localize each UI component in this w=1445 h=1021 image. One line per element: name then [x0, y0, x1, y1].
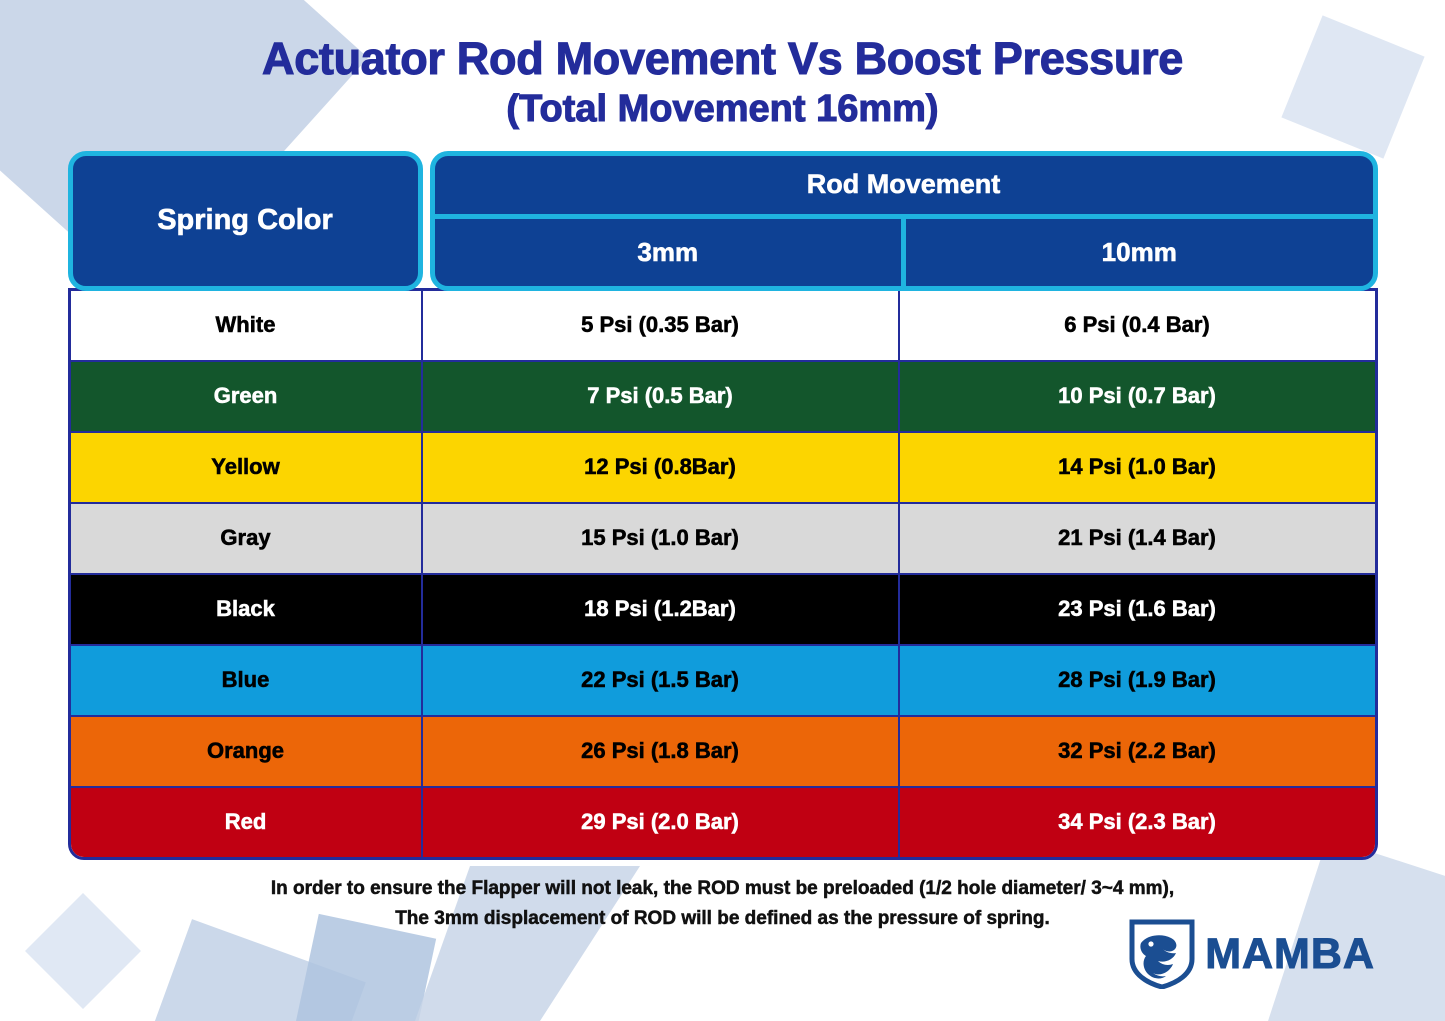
- header-sub-10mm: 10mm: [901, 219, 1373, 286]
- cell-pressure-3mm: 12 Psi (0.8Bar): [423, 433, 900, 502]
- infographic-page: Actuator Rod Movement Vs Boost Pressure …: [0, 0, 1445, 1021]
- table-row: Blue22 Psi (1.5 Bar)28 Psi (1.9 Bar): [71, 646, 1375, 717]
- cell-pressure-3mm: 7 Psi (0.5 Bar): [423, 362, 900, 431]
- cell-pressure-10mm: 14 Psi (1.0 Bar): [900, 433, 1375, 502]
- header-rod-movement-group: Rod Movement 3mm 10mm: [430, 151, 1378, 291]
- cell-pressure-10mm: 6 Psi (0.4 Bar): [900, 291, 1375, 360]
- cell-pressure-3mm: 18 Psi (1.2Bar): [423, 575, 900, 644]
- cell-spring-color: Blue: [71, 646, 423, 715]
- cell-pressure-3mm: 22 Psi (1.5 Bar): [423, 646, 900, 715]
- table-row: Gray15 Psi (1.0 Bar)21 Psi (1.4 Bar): [71, 504, 1375, 575]
- header-sub-3mm: 3mm: [435, 219, 902, 286]
- cell-spring-color: Gray: [71, 504, 423, 573]
- title-primary: Actuator Rod Movement Vs Boost Pressure: [0, 36, 1445, 82]
- table-row: Red29 Psi (2.0 Bar)34 Psi (2.3 Bar): [71, 788, 1375, 857]
- table-row: Orange26 Psi (1.8 Bar)32 Psi (2.2 Bar): [71, 717, 1375, 788]
- cell-pressure-3mm: 5 Psi (0.35 Bar): [423, 291, 900, 360]
- mamba-logo: MAMBA: [1129, 919, 1375, 989]
- header-rod-movement: Rod Movement: [435, 156, 1373, 219]
- title-secondary: (Total Movement 16mm): [0, 90, 1445, 129]
- cell-pressure-10mm: 21 Psi (1.4 Bar): [900, 504, 1375, 573]
- header-sub-10mm-label: 10mm: [1102, 237, 1177, 268]
- cell-pressure-10mm: 28 Psi (1.9 Bar): [900, 646, 1375, 715]
- cell-pressure-3mm: 26 Psi (1.8 Bar): [423, 717, 900, 786]
- header-spring-color: Spring Color: [68, 151, 423, 291]
- mamba-snake-shield-icon: [1129, 919, 1195, 989]
- table-body: White5 Psi (0.35 Bar)6 Psi (0.4 Bar)Gree…: [68, 288, 1378, 860]
- cell-pressure-10mm: 34 Psi (2.3 Bar): [900, 788, 1375, 857]
- footer-note-1: In order to ensure the Flapper will not …: [0, 874, 1445, 905]
- cell-spring-color: Green: [71, 362, 423, 431]
- page-title: Actuator Rod Movement Vs Boost Pressure …: [0, 0, 1445, 129]
- pressure-table: Spring Color Rod Movement 3mm 10mm White…: [68, 151, 1378, 860]
- header-rod-movement-label: Rod Movement: [807, 169, 1001, 200]
- cell-spring-color: Yellow: [71, 433, 423, 502]
- cell-pressure-10mm: 32 Psi (2.2 Bar): [900, 717, 1375, 786]
- table-row: Green7 Psi (0.5 Bar)10 Psi (0.7 Bar): [71, 362, 1375, 433]
- cell-spring-color: White: [71, 291, 423, 360]
- cell-pressure-10mm: 10 Psi (0.7 Bar): [900, 362, 1375, 431]
- header-sub-3mm-label: 3mm: [637, 237, 698, 268]
- cell-pressure-10mm: 23 Psi (1.6 Bar): [900, 575, 1375, 644]
- cell-pressure-3mm: 15 Psi (1.0 Bar): [423, 504, 900, 573]
- header-spring-color-label: Spring Color: [157, 204, 333, 237]
- cell-spring-color: Red: [71, 788, 423, 857]
- cell-spring-color: Orange: [71, 717, 423, 786]
- header-subcolumns: 3mm 10mm: [435, 219, 1373, 286]
- mamba-wordmark: MAMBA: [1205, 930, 1375, 979]
- table-row: Yellow12 Psi (0.8Bar)14 Psi (1.0 Bar): [71, 433, 1375, 504]
- table-row: Black18 Psi (1.2Bar)23 Psi (1.6 Bar): [71, 575, 1375, 646]
- cell-spring-color: Black: [71, 575, 423, 644]
- table-row: White5 Psi (0.35 Bar)6 Psi (0.4 Bar): [71, 291, 1375, 362]
- table-header: Spring Color Rod Movement 3mm 10mm: [68, 151, 1378, 291]
- cell-pressure-3mm: 29 Psi (2.0 Bar): [423, 788, 900, 857]
